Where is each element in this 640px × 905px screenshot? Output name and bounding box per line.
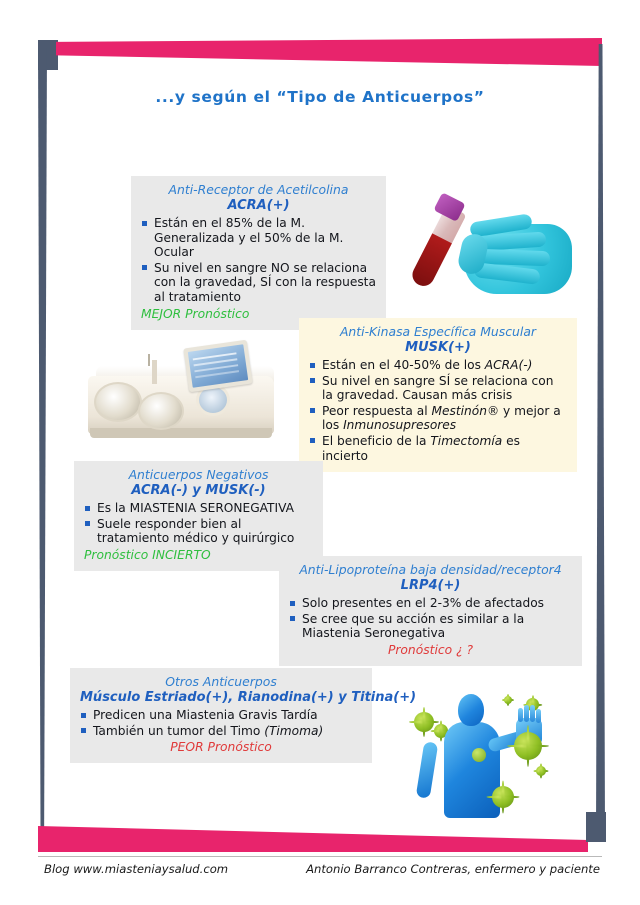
block-heading: Anti-Kinasa Específica Muscular [309,324,567,339]
sample-carousel [138,392,184,430]
figure-arm-lowered [416,741,439,799]
antibody-block-lrp4-positive: Anti-Lipoproteína baja densidad/receptor… [279,556,582,666]
list-item: Solo presentes en el 2-3% de afectados [289,596,572,611]
pink-wedge-top [56,38,602,66]
pink-wedge-bottom [38,826,588,852]
block-heading: Anti-Lipoproteína baja densidad/receptor… [289,562,572,577]
block-subheading: Músculo Estriado(+), Rianodina(+) y Titi… [80,689,362,706]
lab-analyzer-image [88,336,294,448]
list-item: Suele responder bien al tratamiento médi… [84,517,313,546]
list-item: Están en el 40-50% de los ACRA(-) [309,358,567,373]
blood-fill [409,233,452,289]
sample-carousel [94,382,142,422]
germ-icon [536,766,546,776]
side-bar-right [596,44,605,834]
block-subheading: ACRA(+) [141,197,376,214]
block-heading: Anticuerpos Negativos [84,467,313,482]
block-heading: Anti-Receptor de Acetilcolina [141,182,376,197]
germ-icon [504,696,512,704]
analyzer-monitor [183,340,253,392]
germ-icon [514,732,542,760]
analyzer-base [90,428,272,438]
bullet-list: Están en el 85% de la M. Generalizada y … [141,216,376,305]
bullet-list: Están en el 40-50% de los ACRA(-) Su niv… [309,358,567,463]
footer-blog-url[interactable]: Blog www.miasteniaysalud.com [44,862,228,876]
germ-icon [492,786,514,808]
antibody-block-musk-positive: Anti-Kinasa Específica Muscular MUSK(+) … [299,318,577,472]
immune-defense-image [396,690,564,822]
list-item: Es la MIASTENIA SERONEGATIVA [84,501,313,516]
antibody-block-seronegative: Anticuerpos Negativos ACRA(-) y MUSK(-) … [74,461,323,571]
poster-page: ...y según el “Tipo de Anticuerpos” [0,0,640,905]
page-title: ...y según el “Tipo de Anticuerpos” [0,88,640,106]
block-subheading: LRP4(+) [289,577,572,594]
antibody-block-acra-positive: Anti-Receptor de Acetilcolina ACRA(+) Es… [131,176,386,330]
footer-author: Antonio Barranco Contreras, enfermero y … [306,862,600,876]
list-item: Su nivel en sangre NO se relaciona con l… [141,261,376,305]
footer-divider [38,856,602,857]
monitor-screen [188,344,248,387]
list-item: El beneficio de la Timectomía es inciert… [309,434,567,463]
bullet-list: Solo presentes en el 2-3% de afectados S… [289,596,572,641]
prognosis-label: Pronóstico ¿ ? [289,642,572,658]
side-bar-left [38,44,47,834]
block-heading: Otros Anticuerpos [80,674,362,689]
figure-head [458,694,484,726]
list-item: Su nivel en sangre SÍ se relaciona con l… [309,374,567,403]
germ-icon [472,748,486,762]
bullet-list: Es la MIASTENIA SERONEGATIVA Suele respo… [84,501,313,546]
prognosis-label: PEOR Pronóstico [80,739,362,755]
list-item: Predicen una Miastenia Gravis Tardía [80,708,362,723]
list-item: Están en el 85% de la M. Generalizada y … [141,216,376,260]
list-item: Se cree que su acción es similar a la Mi… [289,612,572,641]
blood-sample-tube-image [424,190,576,308]
corner-accent-bottom-right [586,812,606,842]
antibody-block-other: Otros Anticuerpos Músculo Estriado(+), R… [70,668,372,763]
figure-torso [444,722,500,818]
bullet-list: Predicen una Miastenia Gravis Tardía Tam… [80,708,362,738]
footer: Blog www.miasteniaysalud.com Antonio Bar… [38,860,602,884]
block-subheading: ACRA(-) y MUSK(-) [84,482,313,499]
monitor-stalk [152,360,157,384]
list-item: Peor respuesta al Mestinón® y mejor a lo… [309,404,567,433]
germ-icon [414,712,434,732]
block-subheading: MUSK(+) [309,339,567,356]
list-item: También un tumor del Timo (Timoma) [80,724,362,739]
